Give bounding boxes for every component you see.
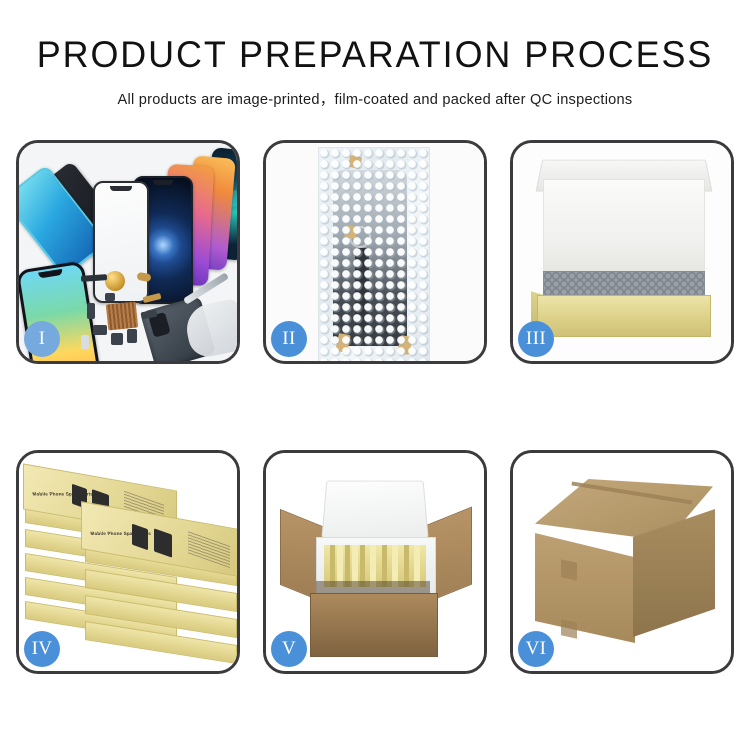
step-panel-2: II (263, 140, 487, 364)
bubble-texture (319, 148, 429, 361)
carton-left-face (535, 533, 635, 643)
yellow-box-base (537, 295, 711, 337)
step-badge-1: I (24, 321, 60, 357)
page-subtitle: All products are image-printed，film-coat… (0, 88, 750, 109)
part-small-g (105, 293, 115, 301)
product-preparation-infographic: PRODUCT PREPARATION PROCESS All products… (0, 0, 750, 750)
phone-artwork (132, 524, 148, 551)
gold-chip-icon (105, 271, 125, 291)
header: PRODUCT PREPARATION PROCESS All products… (0, 0, 750, 109)
connector-grid-icon (106, 302, 139, 331)
step-panel-5: V (263, 450, 487, 674)
step-badge-3: III (518, 321, 554, 357)
spec-lines (188, 530, 230, 568)
foam-lid (321, 481, 428, 539)
step-panel-4: Mobile Phone Spare Parts Mobile Phone Sp… (16, 450, 240, 674)
bubble-bag (318, 147, 430, 361)
part-small-e (81, 335, 89, 349)
part-small-b (93, 325, 107, 335)
white-foam-sheet (543, 179, 705, 281)
part-small-c (111, 333, 123, 345)
carton-body (310, 593, 438, 657)
step-panel-3: III (510, 140, 734, 364)
tape-mark-lower (561, 619, 577, 638)
process-steps-grid: I II (16, 140, 734, 674)
step-badge-6: VI (518, 631, 554, 667)
step-badge-4: IV (24, 631, 60, 667)
step-panel-6: VI (510, 450, 734, 674)
phone-artwork (154, 528, 172, 557)
step-badge-2: II (271, 321, 307, 357)
part-small-d (127, 329, 137, 343)
step-panel-1: I (16, 140, 240, 364)
page-title: PRODUCT PREPARATION PROCESS (11, 36, 739, 75)
part-small-a (87, 303, 95, 319)
step-badge-5: V (271, 631, 307, 667)
tape-mark-upper (561, 559, 577, 580)
